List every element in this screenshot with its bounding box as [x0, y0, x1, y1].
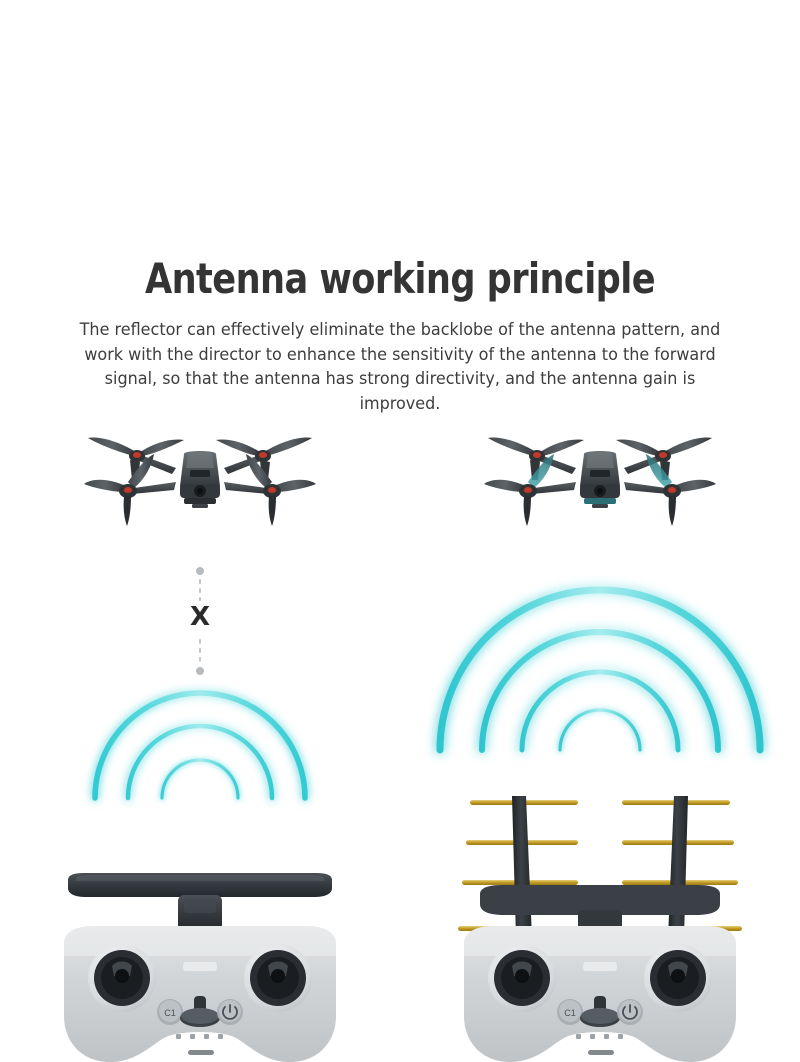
signal-waves-left — [0, 668, 400, 818]
button-power[interactable] — [217, 999, 243, 1025]
drone-arm-front-left — [532, 482, 576, 494]
button-c1-label: C1 — [164, 1008, 176, 1018]
control-stick-left — [88, 944, 156, 1012]
drone-arm-front-right — [624, 482, 668, 494]
controller-left: C1 — [50, 866, 350, 1062]
x-mark: X — [180, 602, 220, 632]
wave-arc-4 — [560, 710, 640, 750]
speaker-grille — [183, 962, 217, 971]
button-c1[interactable]: C1 — [557, 999, 583, 1025]
usb-c-port — [588, 1050, 614, 1055]
battery-leds — [576, 1034, 623, 1039]
battery-leds — [176, 1034, 223, 1039]
control-stick-left — [488, 944, 556, 1012]
wave-arc-2 — [482, 632, 718, 750]
drone-body — [580, 451, 620, 508]
control-stick-right — [244, 944, 312, 1012]
signal-waves-right — [400, 498, 800, 760]
wave-arc-1 — [95, 693, 305, 798]
button-c1[interactable]: C1 — [157, 999, 183, 1025]
drone-arm-front-right — [224, 482, 268, 494]
usb-c-port — [188, 1050, 214, 1055]
wave-arc-3 — [162, 760, 238, 798]
drone-body — [180, 451, 220, 508]
button-power[interactable] — [617, 999, 643, 1025]
panel-without-reflector: X — [0, 0, 400, 1062]
panel-with-reflector: C1 — [400, 0, 800, 1062]
wave-arc-2 — [128, 726, 272, 798]
antenna-principle-infographic: Antenna working principle The reflector … — [0, 0, 800, 1062]
drone-arm-front-left — [132, 482, 176, 494]
signal-blocked-indicator: X — [180, 566, 220, 676]
drone-illustration-left — [80, 424, 320, 536]
controller-right: C1 — [450, 866, 750, 1062]
control-stick-right — [644, 944, 712, 1012]
blocker-dot-top — [196, 567, 204, 575]
drone-illustration-right — [480, 424, 720, 536]
phone-clamp — [68, 873, 332, 931]
button-c1-label: C1 — [564, 1008, 576, 1018]
speaker-grille — [583, 962, 617, 971]
